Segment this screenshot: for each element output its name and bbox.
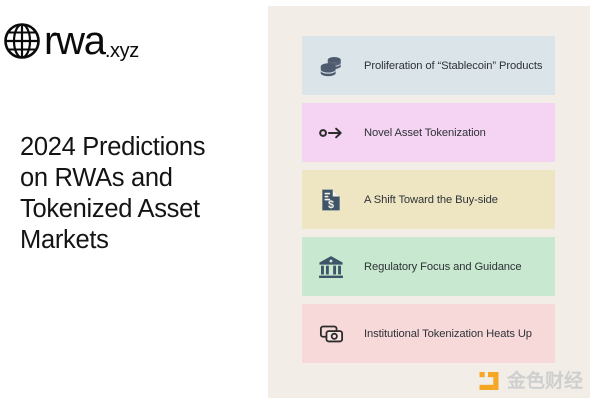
list-item-label: Regulatory Focus and Guidance <box>364 260 522 274</box>
brand-name: rwa <box>44 21 105 61</box>
list-item-label: A Shift Toward the Buy-side <box>364 193 498 207</box>
list-item-label: Novel Asset Tokenization <box>364 126 486 140</box>
bank-building-icon <box>316 252 346 282</box>
globe-icon <box>2 21 42 61</box>
left-column: rwa .xyz 2024 Predictions on RWAs and To… <box>0 0 268 404</box>
list-item[interactable]: Proliferation of “Stablecoin” Products <box>302 36 555 95</box>
list-item-label: Proliferation of “Stablecoin” Products <box>364 59 542 73</box>
predictions-list: Proliferation of “Stablecoin” Products N… <box>302 36 555 371</box>
circle-arrow-right-icon <box>316 118 346 148</box>
watermark: 金色财经 <box>478 368 583 394</box>
list-item[interactable]: $ A Shift Toward the Buy-side <box>302 170 555 229</box>
banknotes-icon <box>316 319 346 349</box>
list-item[interactable]: Institutional Tokenization Heats Up <box>302 304 555 363</box>
document-dollar-icon: $ <box>316 185 346 215</box>
brand-logo[interactable]: rwa .xyz <box>2 18 139 64</box>
list-item[interactable]: Novel Asset Tokenization <box>302 103 555 162</box>
watermark-text: 金色财经 <box>507 370 583 392</box>
page-title: 2024 Predictions on RWAs and Tokenized A… <box>20 132 255 256</box>
predictions-panel: Proliferation of “Stablecoin” Products N… <box>268 6 590 398</box>
brand-tld: .xyz <box>105 41 139 61</box>
list-item-label: Institutional Tokenization Heats Up <box>364 327 532 341</box>
coins-stack-icon <box>316 51 346 81</box>
list-item[interactable]: Regulatory Focus and Guidance <box>302 237 555 296</box>
jinse-logo-icon <box>478 370 500 392</box>
svg-text:$: $ <box>328 199 334 211</box>
